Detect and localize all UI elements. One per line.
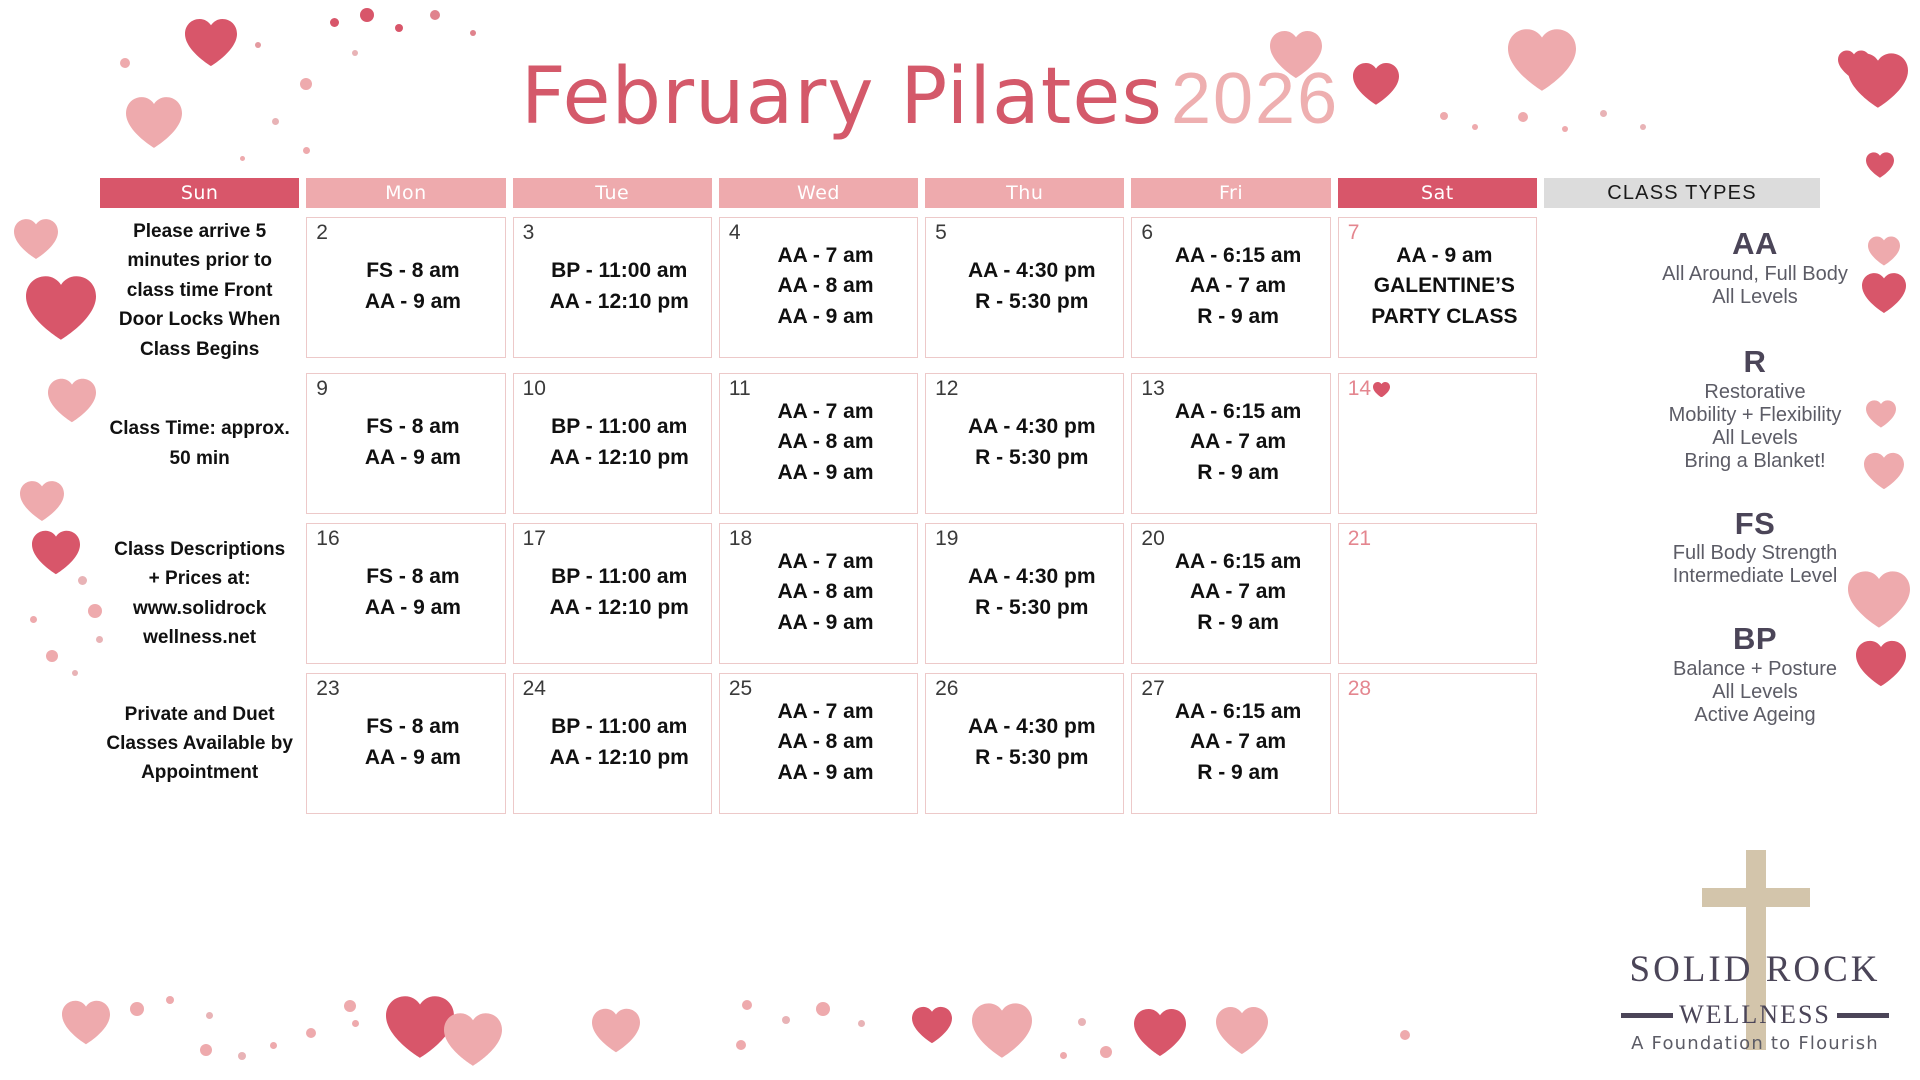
class-event: AA - 9 am [777, 302, 873, 332]
class-event: AA - 6:15 am [1175, 547, 1301, 577]
decorative-dot [360, 8, 374, 22]
decorative-dot [430, 10, 440, 20]
heart-icon [1353, 63, 1399, 107]
class-event: AA - 9 am [365, 443, 461, 473]
decorative-dot [736, 1040, 746, 1050]
class-type-description-line: All Around, Full Body [1595, 263, 1915, 286]
class-event: AA - 7 am [1190, 727, 1286, 757]
heart-icon [26, 275, 96, 341]
class-type-code: BP [1595, 620, 1915, 658]
class-event: AA - 4:30 pm [968, 256, 1096, 286]
day-cell[interactable]: 17BP - 11:00 amAA - 12:10 pm [513, 523, 712, 664]
class-types-panel: AAAll Around, Full BodyAll LevelsRRestor… [1595, 225, 1915, 727]
note-text: Please arrive 5 minutes prior to class t… [106, 217, 293, 364]
logo-sub-wrap: WELLNESS [1595, 1000, 1915, 1030]
class-type-description-line: Bring a Blanket! [1595, 450, 1915, 473]
logo-rule-right [1837, 1013, 1889, 1018]
day-cell[interactable]: 20AA - 6:15 amAA - 7 amR - 9 am [1131, 523, 1330, 664]
heart-icon [48, 378, 96, 423]
day-events: AA - 4:30 pmR - 5:30 pm [934, 224, 1115, 349]
day-events: BP - 11:00 amAA - 12:10 pm [522, 530, 703, 655]
decorative-dot [470, 30, 476, 36]
weeks-container: Please arrive 5 minutes prior to class t… [100, 217, 1820, 814]
decorative-dot [1078, 1018, 1086, 1026]
class-event: FS - 8 am [366, 256, 459, 286]
class-event: FS - 8 am [366, 712, 459, 742]
day-events: FS - 8 amAA - 9 am [315, 380, 496, 505]
class-type-description-line: All Levels [1595, 681, 1915, 704]
day-number: 13 [1141, 378, 1164, 399]
heart-icon [386, 995, 454, 1059]
class-event: AA - 6:15 am [1175, 397, 1301, 427]
class-type-code: FS [1595, 505, 1915, 543]
day-cell[interactable]: 16FS - 8 amAA - 9 am [306, 523, 505, 664]
class-event: AA - 9 am [365, 743, 461, 773]
note-text: Class Time: approx. 50 min [106, 414, 293, 473]
class-event: AA - 12:10 pm [550, 443, 689, 473]
day-number: 23 [316, 678, 339, 699]
day-number: 27 [1141, 678, 1164, 699]
day-number: 18 [729, 528, 752, 549]
week-row: Class Descriptions + Prices at: www.soli… [100, 523, 1820, 664]
day-cell[interactable]: 6AA - 6:15 amAA - 7 amR - 9 am [1131, 217, 1330, 358]
day-cell[interactable]: 4AA - 7 amAA - 8 amAA - 9 am [719, 217, 918, 358]
class-type-aa: AAAll Around, Full BodyAll Levels [1595, 225, 1915, 309]
day-events: AA - 9 amGALENTINE’SPARTY CLASS [1347, 224, 1528, 349]
decorative-dot [206, 1012, 213, 1019]
day-events: AA - 4:30 pmR - 5:30 pm [934, 380, 1115, 505]
class-event: AA - 9 am [365, 593, 461, 623]
day-events: AA - 7 amAA - 8 amAA - 9 am [728, 380, 909, 505]
day-events: BP - 11:00 amAA - 12:10 pm [522, 680, 703, 805]
class-event: BP - 11:00 am [551, 562, 687, 592]
heart-icon [1866, 152, 1894, 178]
day-cell[interactable]: 24BP - 11:00 amAA - 12:10 pm [513, 673, 712, 814]
class-event: AA - 7 am [1190, 577, 1286, 607]
class-event: AA - 6:15 am [1175, 697, 1301, 727]
class-event: AA - 9 am [777, 758, 873, 788]
day-events: AA - 7 amAA - 8 amAA - 9 am [728, 224, 909, 349]
day-number: 4 [729, 222, 741, 243]
day-events [1347, 530, 1528, 655]
day-cell[interactable]: 28 [1338, 673, 1537, 814]
decorative-dot [166, 996, 174, 1004]
week-row: Please arrive 5 minutes prior to class t… [100, 217, 1820, 364]
day-number: 9 [316, 378, 328, 399]
note-text: Private and Duet Classes Available by Ap… [106, 700, 293, 788]
day-number: 17 [523, 528, 546, 549]
day-events: AA - 7 amAA - 8 amAA - 9 am [728, 530, 909, 655]
page-title: February Pilates2026 [0, 52, 1920, 142]
decorative-dot [1100, 1046, 1112, 1058]
day-events: AA - 6:15 amAA - 7 amR - 9 am [1140, 380, 1321, 505]
heart-icon [972, 1002, 1032, 1059]
class-event: AA - 12:10 pm [550, 287, 689, 317]
heart-icon [14, 218, 58, 260]
day-number: 25 [729, 678, 752, 699]
calendar-grid: SunMonTueWedThuFriSatCLASS TYPES Please … [100, 178, 1820, 814]
class-event: FS - 8 am [366, 412, 459, 442]
day-header-thu: Thu [925, 178, 1124, 208]
heart-icon [1373, 380, 1390, 396]
class-event: R - 9 am [1197, 758, 1279, 788]
day-cell[interactable]: 9FS - 8 amAA - 9 am [306, 373, 505, 514]
decorative-dot [238, 1052, 246, 1060]
logo-sub: WELLNESS [1679, 1000, 1831, 1030]
day-events: AA - 6:15 amAA - 7 amR - 9 am [1140, 530, 1321, 655]
day-header-tue: Tue [513, 178, 712, 208]
class-type-description-line: All Levels [1595, 286, 1915, 309]
decorative-dot [1060, 1052, 1067, 1059]
class-event: AA - 8 am [777, 577, 873, 607]
day-events: BP - 11:00 amAA - 12:10 pm [522, 224, 703, 349]
heart-icon [1134, 1008, 1186, 1057]
class-event: BP - 11:00 am [551, 712, 687, 742]
class-event: R - 9 am [1197, 458, 1279, 488]
day-events: FS - 8 amAA - 9 am [315, 680, 496, 805]
decorative-dot [72, 670, 78, 676]
notes-cell: Please arrive 5 minutes prior to class t… [100, 217, 299, 364]
calendar-page: February Pilates2026 SunMonTueWedThuFriS… [0, 0, 1920, 1080]
decorative-dot [330, 18, 339, 27]
day-header-sat: Sat [1338, 178, 1537, 208]
class-event: AA - 8 am [777, 427, 873, 457]
heart-icon [444, 1012, 502, 1067]
day-number: 10 [523, 378, 546, 399]
decorative-dot [858, 1020, 865, 1027]
day-number: 16 [316, 528, 339, 549]
heart-icon [20, 480, 64, 522]
brand-logo: SOLID ROCK WELLNESS A Foundation to Flou… [1595, 850, 1915, 1065]
class-types-header: CLASS TYPES [1544, 178, 1820, 208]
day-number: 2 [316, 222, 328, 243]
decorative-dot [1400, 1030, 1410, 1040]
day-header-row: SunMonTueWedThuFriSatCLASS TYPES [100, 178, 1820, 208]
class-type-code: R [1595, 343, 1915, 381]
decorative-dot [255, 42, 261, 48]
day-events: FS - 8 amAA - 9 am [315, 224, 496, 349]
decorative-dot [130, 1002, 144, 1016]
class-type-description-line: Active Ageing [1595, 704, 1915, 727]
day-header-mon: Mon [306, 178, 505, 208]
decorative-dot [270, 1042, 277, 1049]
day-number: 6 [1141, 222, 1153, 243]
class-event: AA - 4:30 pm [968, 412, 1096, 442]
day-number: 24 [523, 678, 546, 699]
notes-cell: Class Time: approx. 50 min [100, 373, 299, 514]
day-cell[interactable]: 23FS - 8 amAA - 9 am [306, 673, 505, 814]
day-events: BP - 11:00 amAA - 12:10 pm [522, 380, 703, 505]
note-text: Class Descriptions + Prices at: www.soli… [106, 535, 293, 653]
day-events: AA - 6:15 amAA - 7 amR - 9 am [1140, 680, 1321, 805]
class-type-description-line: Balance + Posture [1595, 658, 1915, 681]
day-cell[interactable]: 7AA - 9 amGALENTINE’SPARTY CLASS [1338, 217, 1537, 358]
heart-icon [32, 530, 80, 575]
class-event: AA - 8 am [777, 727, 873, 757]
day-number: 7 [1348, 222, 1360, 243]
day-cell[interactable]: 2FS - 8 amAA - 9 am [306, 217, 505, 358]
decorative-dot [344, 1000, 356, 1012]
class-event: PARTY CLASS [1371, 302, 1517, 332]
class-type-description-line: Restorative [1595, 381, 1915, 404]
day-cell[interactable]: 25AA - 7 amAA - 8 amAA - 9 am [719, 673, 918, 814]
day-events: AA - 4:30 pmR - 5:30 pm [934, 530, 1115, 655]
class-event: AA - 7 am [777, 697, 873, 727]
day-number: 20 [1141, 528, 1164, 549]
decorative-dot [30, 616, 37, 623]
decorative-dot [78, 576, 87, 585]
day-header-wed: Wed [719, 178, 918, 208]
decorative-dot [303, 147, 310, 154]
class-event: R - 9 am [1197, 608, 1279, 638]
week-row: Private and Duet Classes Available by Ap… [100, 673, 1820, 814]
decorative-dot [742, 1000, 752, 1010]
heart-icon [1216, 1006, 1268, 1055]
day-cell[interactable]: 5AA - 4:30 pmR - 5:30 pm [925, 217, 1124, 358]
day-cell[interactable]: 3BP - 11:00 amAA - 12:10 pm [513, 217, 712, 358]
day-events: AA - 7 amAA - 8 amAA - 9 am [728, 680, 909, 805]
class-event: R - 5:30 pm [975, 743, 1088, 773]
day-number: 14 [1348, 378, 1390, 399]
day-events [1347, 680, 1528, 805]
class-event: AA - 12:10 pm [550, 593, 689, 623]
day-cell[interactable]: 14 [1338, 373, 1537, 514]
decorative-dot [46, 650, 58, 662]
decorative-dot [782, 1016, 790, 1024]
notes-cell: Private and Duet Classes Available by Ap… [100, 673, 299, 814]
day-number: 28 [1348, 678, 1371, 699]
day-number: 12 [935, 378, 958, 399]
day-cell[interactable]: 26AA - 4:30 pmR - 5:30 pm [925, 673, 1124, 814]
day-number: 21 [1348, 528, 1371, 549]
day-cell[interactable]: 13AA - 6:15 amAA - 7 amR - 9 am [1131, 373, 1330, 514]
day-cell[interactable]: 21 [1338, 523, 1537, 664]
class-event: R - 9 am [1197, 302, 1279, 332]
notes-cell: Class Descriptions + Prices at: www.soli… [100, 523, 299, 664]
heart-icon [912, 1006, 952, 1044]
decorative-dot [240, 156, 245, 161]
class-event: R - 5:30 pm [975, 443, 1088, 473]
week-row: Class Time: approx. 50 min9FS - 8 amAA -… [100, 373, 1820, 514]
day-number: 26 [935, 678, 958, 699]
decorative-dot [306, 1028, 316, 1038]
class-type-bp: BPBalance + PostureAll LevelsActive Agei… [1595, 620, 1915, 727]
day-cell[interactable]: 12AA - 4:30 pmR - 5:30 pm [925, 373, 1124, 514]
class-event: AA - 7 am [1190, 427, 1286, 457]
class-type-r: RRestorativeMobility + FlexibilityAll Le… [1595, 343, 1915, 473]
day-events: AA - 6:15 amAA - 7 amR - 9 am [1140, 224, 1321, 349]
class-event: GALENTINE’S [1374, 271, 1515, 301]
class-event: AA - 7 am [777, 397, 873, 427]
class-type-code: AA [1595, 225, 1915, 263]
day-cell[interactable]: 19AA - 4:30 pmR - 5:30 pm [925, 523, 1124, 664]
class-event: AA - 9 am [1396, 241, 1492, 271]
class-event: BP - 11:00 am [551, 412, 687, 442]
class-event: AA - 8 am [777, 271, 873, 301]
class-event: AA - 9 am [777, 458, 873, 488]
decorative-dot [200, 1044, 212, 1056]
decorative-dot [395, 24, 403, 32]
class-type-description-line: Intermediate Level [1595, 565, 1915, 588]
class-event: AA - 9 am [777, 608, 873, 638]
day-cell[interactable]: 11AA - 7 amAA - 8 amAA - 9 am [719, 373, 918, 514]
class-event: AA - 7 am [777, 547, 873, 577]
class-event: AA - 9 am [365, 287, 461, 317]
day-cell[interactable]: 27AA - 6:15 amAA - 7 amR - 9 am [1131, 673, 1330, 814]
class-event: AA - 12:10 pm [550, 743, 689, 773]
decorative-dot [352, 1020, 359, 1027]
heart-icon [62, 1000, 110, 1045]
day-events: AA - 4:30 pmR - 5:30 pm [934, 680, 1115, 805]
class-event: AA - 7 am [1190, 271, 1286, 301]
day-cell[interactable]: 18AA - 7 amAA - 8 amAA - 9 am [719, 523, 918, 664]
day-header-fri: Fri [1131, 178, 1330, 208]
class-event: BP - 11:00 am [551, 256, 687, 286]
class-event: AA - 4:30 pm [968, 562, 1096, 592]
day-cell[interactable]: 10BP - 11:00 amAA - 12:10 pm [513, 373, 712, 514]
decorative-dot [816, 1002, 830, 1016]
day-number: 5 [935, 222, 947, 243]
day-header-sun: Sun [100, 178, 299, 208]
heart-icon [592, 1008, 640, 1053]
class-event: AA - 4:30 pm [968, 712, 1096, 742]
class-event: FS - 8 am [366, 562, 459, 592]
class-type-description-line: All Levels [1595, 427, 1915, 450]
logo-rule-left [1621, 1013, 1673, 1018]
class-event: AA - 7 am [777, 241, 873, 271]
class-event: AA - 6:15 am [1175, 241, 1301, 271]
day-number: 3 [523, 222, 535, 243]
class-type-description-line: Full Body Strength [1595, 542, 1915, 565]
title-month: February Pilates [521, 52, 1163, 142]
logo-tagline: A Foundation to Flourish [1595, 1033, 1915, 1054]
day-events: FS - 8 amAA - 9 am [315, 530, 496, 655]
day-number: 11 [729, 378, 751, 399]
logo-name: SOLID ROCK [1595, 948, 1915, 991]
title-year: 2026 [1171, 59, 1339, 139]
class-event: R - 5:30 pm [975, 593, 1088, 623]
class-event: R - 5:30 pm [975, 287, 1088, 317]
class-type-fs: FSFull Body StrengthIntermediate Level [1595, 505, 1915, 589]
class-type-description-line: Mobility + Flexibility [1595, 404, 1915, 427]
day-number: 19 [935, 528, 958, 549]
